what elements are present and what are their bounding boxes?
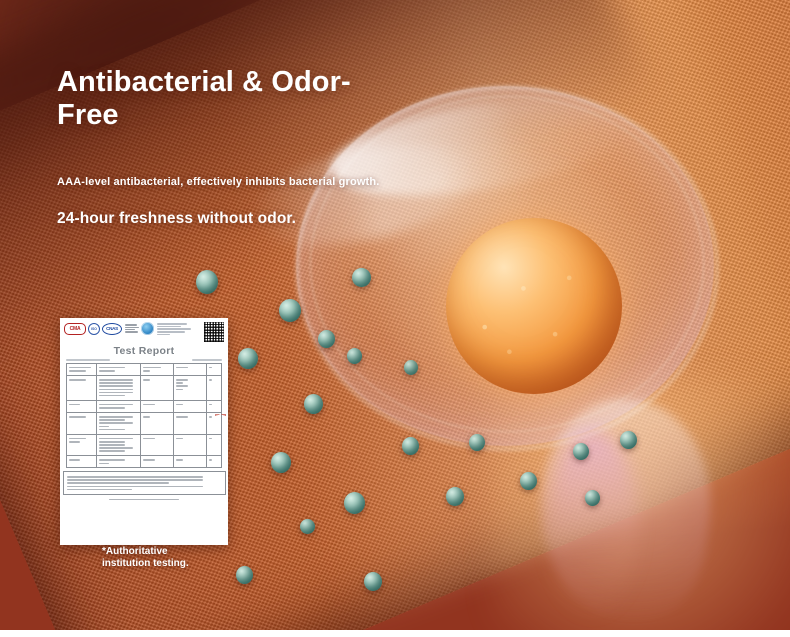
bacteria-sphere: [446, 487, 464, 506]
subline-antibacterial: AAA-level antibacterial, effectively inh…: [57, 176, 477, 188]
lab-address-block: [157, 322, 199, 335]
document-title: Test Report: [60, 345, 228, 357]
cma-logo: CMA: [64, 323, 86, 335]
bacteria-sphere: [402, 437, 419, 455]
blue-seal-logo: [141, 322, 154, 335]
bacteria-sphere: [352, 268, 371, 287]
bacteria-sphere: [238, 348, 258, 369]
table-row: [67, 412, 222, 434]
bacteria-sphere: [347, 348, 362, 364]
report-table: [66, 363, 222, 469]
bottom-white-strip: [0, 630, 790, 637]
bacteria-sphere: [344, 492, 365, 514]
iso-circle-logo: ISO: [88, 323, 100, 335]
virus-surface-texture: [446, 218, 622, 394]
document-caption: *Authoritative institution testing.: [102, 546, 212, 570]
document-notes: [63, 471, 226, 495]
table-row: [67, 375, 222, 400]
document-header: CMA ISO CNAS: [60, 318, 228, 344]
bacteria-sphere: [300, 519, 315, 534]
table-row: [67, 400, 222, 412]
page-title: Antibacterial & Odor-Free: [57, 66, 387, 132]
bacteria-sphere: [520, 472, 537, 490]
logo-caption-lines: [125, 324, 139, 332]
test-report-document[interactable]: CMA ISO CNAS Test Report: [60, 318, 228, 545]
cnas-logo: CNAS: [102, 323, 122, 335]
promo-banner: Antibacterial & Odor-Free AAA-level anti…: [0, 0, 790, 637]
table-row: [67, 434, 222, 456]
bacteria-sphere: [279, 299, 301, 322]
bacteria-sphere: [196, 270, 218, 294]
qr-code-icon[interactable]: [204, 322, 224, 342]
table-row: [67, 456, 222, 468]
bacteria-sphere: [585, 490, 600, 506]
red-seal-stamp: [215, 414, 226, 458]
bacteria-sphere: [364, 572, 382, 591]
table-header-row: [67, 363, 222, 375]
bacteria-sphere: [236, 566, 253, 584]
bacteria-sphere: [271, 452, 291, 473]
document-end-divider: [109, 499, 179, 500]
subline-freshness: 24-hour freshness without odor.: [57, 210, 477, 228]
bacteria-sphere: [304, 394, 323, 414]
bacteria-sphere: [318, 330, 335, 348]
certification-logos: CMA ISO CNAS: [64, 322, 154, 335]
